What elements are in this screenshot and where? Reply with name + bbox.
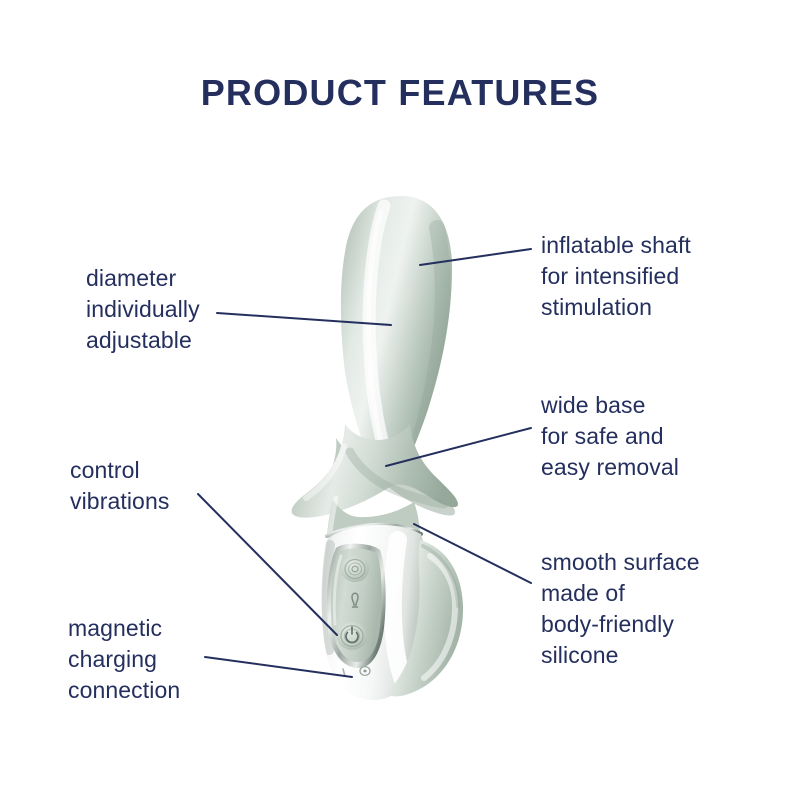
- callout-diameter-individually-adjustable: diameter individually adjustable: [86, 263, 200, 356]
- callout-smooth-surface: smooth surface made of body-friendly sil…: [541, 547, 700, 671]
- callout-wide-base: wide base for safe and easy removal: [541, 390, 679, 483]
- callout-inflatable-shaft: inflatable shaft for intensified stimula…: [541, 230, 691, 323]
- callout-control-vibrations: control vibrations: [70, 455, 169, 517]
- control-panel: [327, 544, 386, 668]
- product-features-infographic: PRODUCT FEATURES: [0, 0, 800, 800]
- air-pump-button[interactable]: [341, 556, 369, 582]
- power-button[interactable]: [337, 622, 367, 650]
- callout-magnetic-charging-connection: magnetic charging connection: [68, 613, 180, 706]
- product-shaft: [341, 196, 452, 462]
